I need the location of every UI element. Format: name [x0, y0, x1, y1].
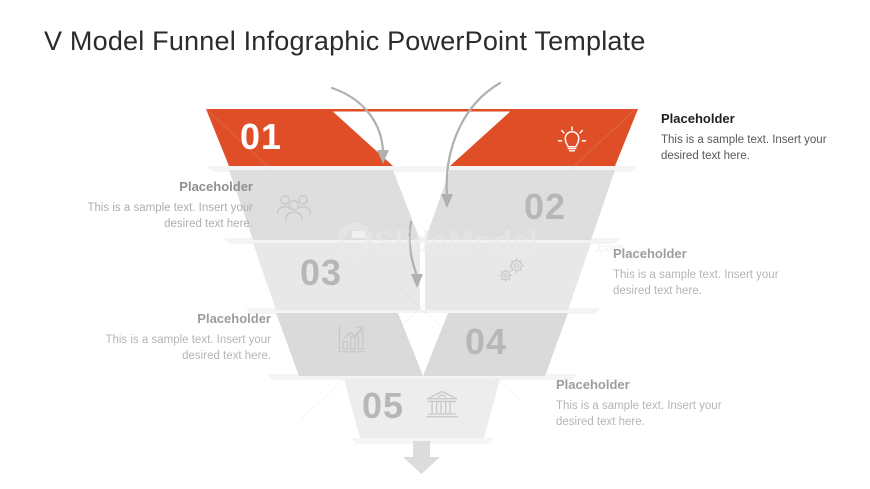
funnel-band-01-right: [450, 109, 638, 166]
placeholder-body-03: This is a sample text. Insert your desir…: [613, 267, 813, 300]
lightbulb-icon: [554, 122, 590, 158]
placeholder-block-01: Placeholder This is a sample text. Inser…: [661, 111, 861, 165]
placeholder-body-04: This is a sample text. Insert your desir…: [71, 332, 271, 365]
placeholder-body-02: This is a sample text. Insert your desir…: [53, 200, 253, 233]
bank-icon: [424, 387, 460, 423]
funnel-band-01-rule: [330, 109, 513, 112]
gears-icon: [494, 253, 530, 289]
funnel-number-04: 04: [465, 324, 507, 360]
bar-chart-icon: [334, 322, 370, 358]
placeholder-title-05: Placeholder: [556, 377, 756, 393]
funnel-output-arrow: [403, 441, 440, 474]
people-group-icon: [274, 189, 314, 227]
placeholder-title-01: Placeholder: [661, 111, 861, 127]
placeholder-body-05: This is a sample text. Insert your desir…: [556, 398, 756, 431]
placeholder-block-02: Placeholder This is a sample text. Inser…: [53, 179, 253, 233]
funnel-number-01: 01: [240, 119, 282, 155]
slide-canvas: V Model Funnel Infographic PowerPoint Te…: [0, 0, 870, 489]
placeholder-block-04: Placeholder This is a sample text. Inser…: [71, 311, 271, 365]
placeholder-body-01: This is a sample text. Insert your desir…: [661, 132, 861, 165]
funnel-number-02: 02: [524, 189, 566, 225]
funnel-band-01-left: [206, 109, 393, 166]
placeholder-title-03: Placeholder: [613, 246, 813, 262]
funnel-number-05: 05: [362, 388, 404, 424]
placeholder-block-05: Placeholder This is a sample text. Inser…: [556, 377, 756, 431]
placeholder-title-04: Placeholder: [71, 311, 271, 327]
funnel-number-03: 03: [300, 255, 342, 291]
placeholder-title-02: Placeholder: [53, 179, 253, 195]
placeholder-block-03: Placeholder This is a sample text. Inser…: [613, 246, 813, 300]
